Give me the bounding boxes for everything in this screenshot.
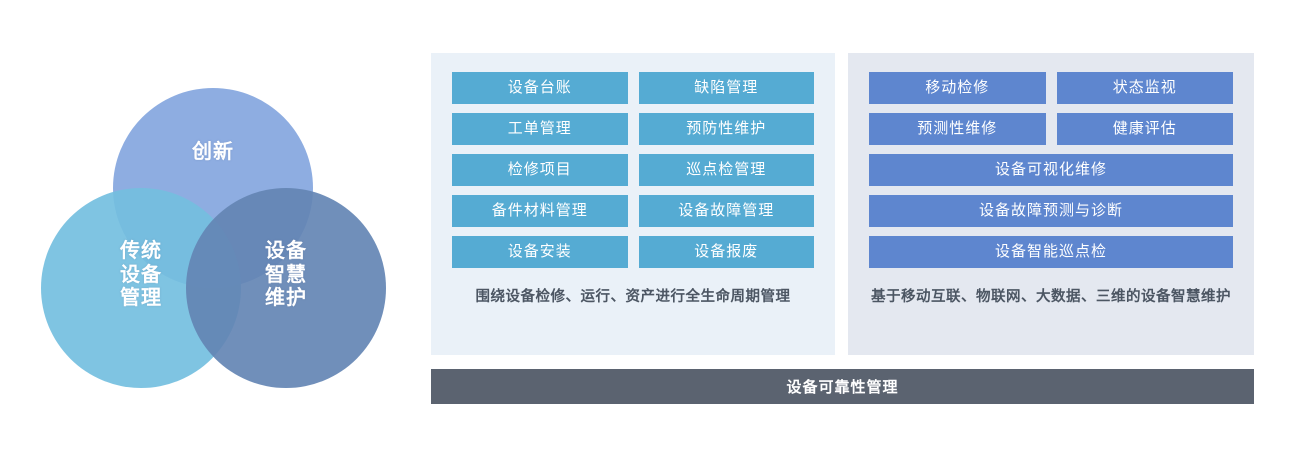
module-cell[interactable]: 设备智能巡点检: [869, 236, 1233, 268]
left-panel-grid: 设备台账缺陷管理工单管理预防性维护检修项目巡点检管理备件材料管理设备故障管理设备…: [452, 72, 814, 268]
diagram-root: 创新 传统 设备 管理 设备 智慧 维护 设备台账缺陷管理工单管理预防性维护检修…: [0, 0, 1307, 451]
module-cell[interactable]: 缺陷管理: [639, 72, 815, 104]
module-cell[interactable]: 设备安装: [452, 236, 628, 268]
module-cell[interactable]: 设备报废: [639, 236, 815, 268]
venn-diagram: 创新 传统 设备 管理 设备 智慧 维护: [0, 0, 420, 451]
module-cell[interactable]: 设备台账: [452, 72, 628, 104]
left-panel-caption: 围绕设备检修、运行、资产进行全生命周期管理: [452, 286, 814, 308]
right-panel: 移动检修状态监视预测性维修健康评估设备可视化维修设备故障预测与诊断设备智能巡点检…: [848, 53, 1254, 355]
module-cell[interactable]: 移动检修: [869, 72, 1046, 104]
module-cell[interactable]: 巡点检管理: [639, 154, 815, 186]
bottom-bar[interactable]: 设备可靠性管理: [431, 369, 1254, 404]
right-panel-caption: 基于移动互联、物联网、大数据、三维的设备智慧维护: [869, 286, 1233, 308]
module-cell[interactable]: 预防性维护: [639, 113, 815, 145]
right-panel-grid: 移动检修状态监视预测性维修健康评估设备可视化维修设备故障预测与诊断设备智能巡点检: [869, 72, 1233, 268]
left-panel: 设备台账缺陷管理工单管理预防性维护检修项目巡点检管理备件材料管理设备故障管理设备…: [431, 53, 835, 355]
module-cell[interactable]: 设备可视化维修: [869, 154, 1233, 186]
module-cell[interactable]: 设备故障管理: [639, 195, 815, 227]
venn-circle-smart-equipment-maintenance[interactable]: [186, 188, 386, 388]
module-cell[interactable]: 工单管理: [452, 113, 628, 145]
module-cell[interactable]: 检修项目: [452, 154, 628, 186]
module-cell[interactable]: 预测性维修: [869, 113, 1046, 145]
venn-circles-svg: [0, 0, 420, 451]
module-cell[interactable]: 设备故障预测与诊断: [869, 195, 1233, 227]
module-cell[interactable]: 备件材料管理: [452, 195, 628, 227]
module-cell[interactable]: 状态监视: [1057, 72, 1234, 104]
bottom-bar-label: 设备可靠性管理: [786, 376, 898, 397]
module-cell[interactable]: 健康评估: [1057, 113, 1234, 145]
